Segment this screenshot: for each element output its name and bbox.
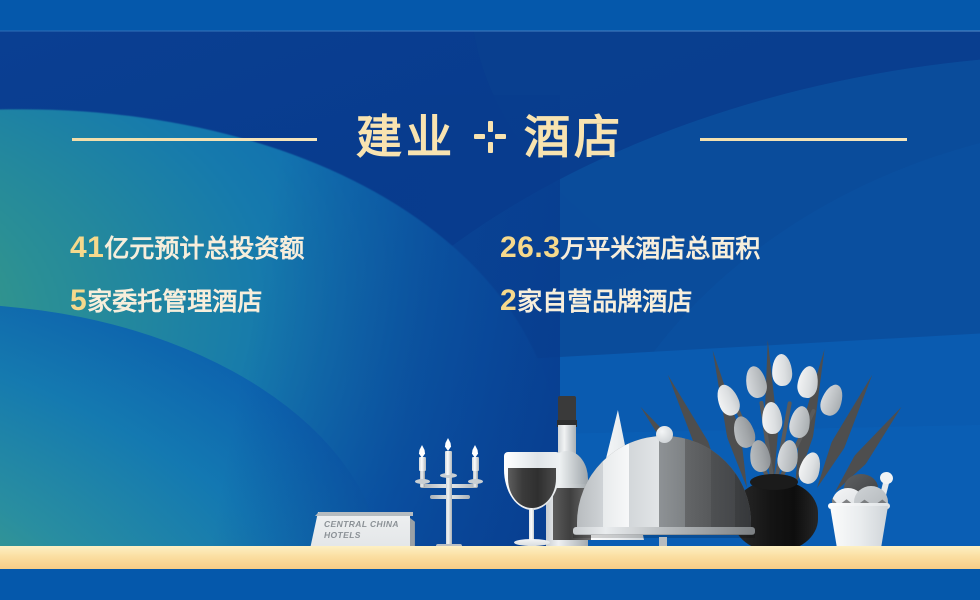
tent-card-text: CENTRAL CHINA HOTELS xyxy=(324,519,410,541)
candle-holder-left xyxy=(415,479,430,484)
flame-icon-center xyxy=(444,438,452,451)
tulip-flower xyxy=(771,353,793,386)
candelabra-icon xyxy=(408,443,492,548)
candle-center xyxy=(445,451,452,475)
hotel-promo-poster: 建业 酒店 41亿元预计总投资额 5家委托管理酒店 26.3万平米酒店总面积 2… xyxy=(0,0,980,600)
tent-card-line2: HOTELS xyxy=(324,530,410,541)
glass-foot xyxy=(514,539,550,546)
candelabra-stem xyxy=(446,471,452,548)
table-surface xyxy=(0,546,980,569)
candle-left xyxy=(419,457,426,471)
tent-card-fold xyxy=(315,512,413,516)
sundae-cup xyxy=(830,506,888,548)
tulip-flower xyxy=(817,382,847,419)
ice-cream-sundae-icon xyxy=(818,472,902,548)
cloche-dome xyxy=(577,436,751,530)
bottom-blue-strip xyxy=(0,569,980,600)
wine-glass-icon xyxy=(504,452,560,548)
vase-opening xyxy=(750,474,798,490)
tent-card-line1: CENTRAL CHINA xyxy=(324,519,410,530)
tulip-flower xyxy=(743,364,769,399)
candle-holder-right xyxy=(468,479,483,484)
cloche-knob xyxy=(656,426,673,443)
spoon-bowl xyxy=(879,471,895,486)
candle-right xyxy=(472,457,479,471)
glass-stem xyxy=(529,508,534,541)
hotel-table-illustration: CENTRAL CHINA HOTELS xyxy=(0,0,980,600)
tulip-flower xyxy=(761,401,783,434)
food-cloche-icon xyxy=(573,424,755,548)
